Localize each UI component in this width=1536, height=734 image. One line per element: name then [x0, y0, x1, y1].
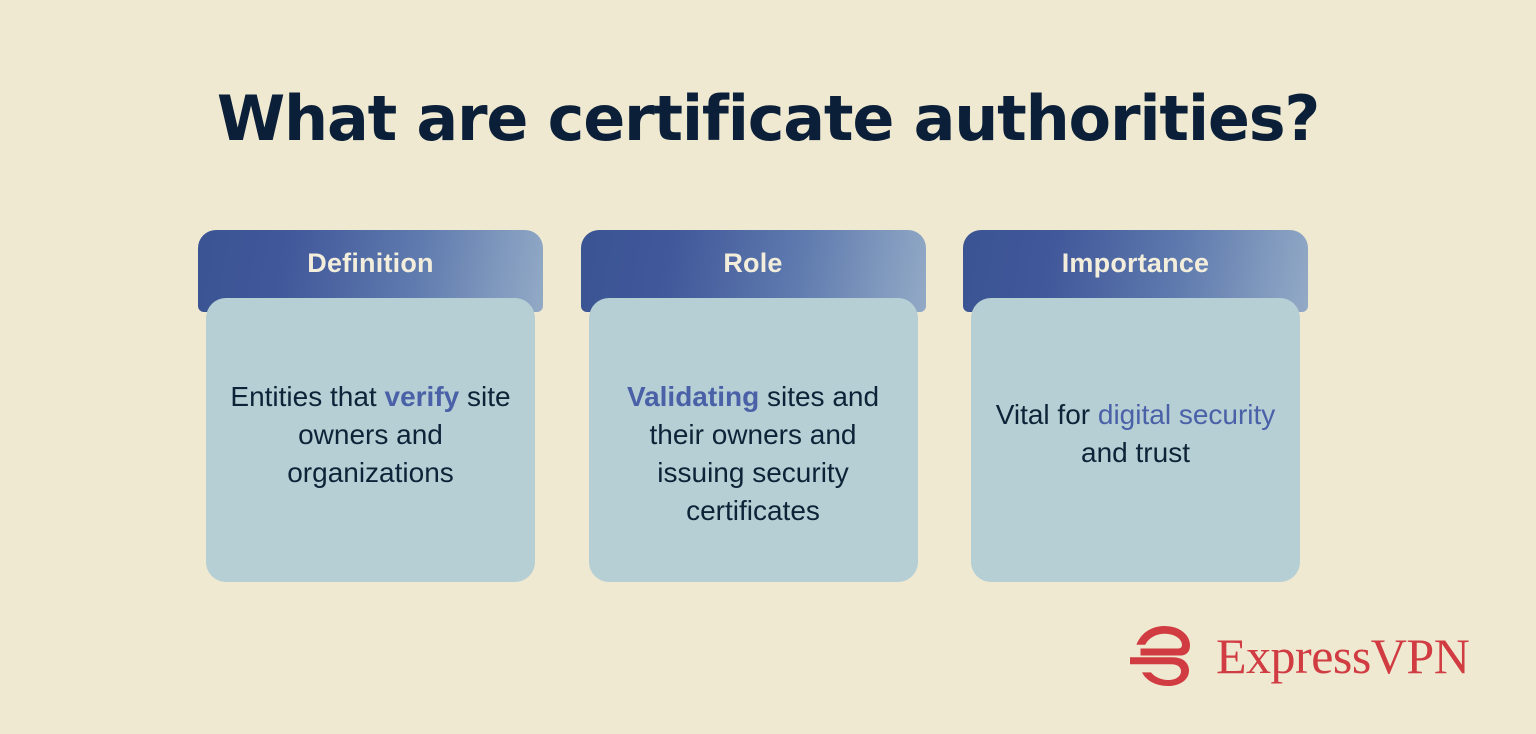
card-header-label: Definition	[198, 248, 543, 279]
card-text-definition: Entities that verify site owners and org…	[220, 378, 521, 492]
card-body-definition: Entities that verify site owners and org…	[206, 298, 535, 582]
card-body-role: Validating sites and their owners and is…	[589, 298, 918, 582]
card-header-label: Importance	[963, 248, 1308, 279]
card-text-importance: Vital for digital security and trust	[985, 396, 1286, 472]
body-text-segment: Entities that	[230, 381, 384, 412]
infographic-canvas: What are certificate authorities? Defini…	[0, 0, 1536, 734]
page-title: What are certificate authorities?	[0, 86, 1536, 151]
body-text-segment: Vital for	[996, 399, 1098, 430]
card-body-importance: Vital for digital security and trust	[971, 298, 1300, 582]
cards-row: Definition Entities that verify site own…	[198, 230, 1308, 582]
highlighted-term: Validating	[627, 381, 759, 412]
expressvpn-e-mark-icon	[1128, 624, 1200, 688]
card-importance: Importance Vital for digital security an…	[963, 230, 1308, 582]
card-text-role: Validating sites and their owners and is…	[603, 378, 904, 530]
expressvpn-logo: ExpressVPN	[1128, 618, 1469, 694]
card-definition: Definition Entities that verify site own…	[198, 230, 543, 582]
highlighted-term: verify	[385, 381, 460, 412]
body-text-segment: and trust	[1081, 437, 1190, 468]
expressvpn-wordmark: ExpressVPN	[1216, 631, 1469, 681]
card-role: Role Validating sites and their owners a…	[581, 230, 926, 582]
highlighted-term: digital security	[1098, 399, 1275, 430]
card-header-label: Role	[581, 248, 926, 279]
